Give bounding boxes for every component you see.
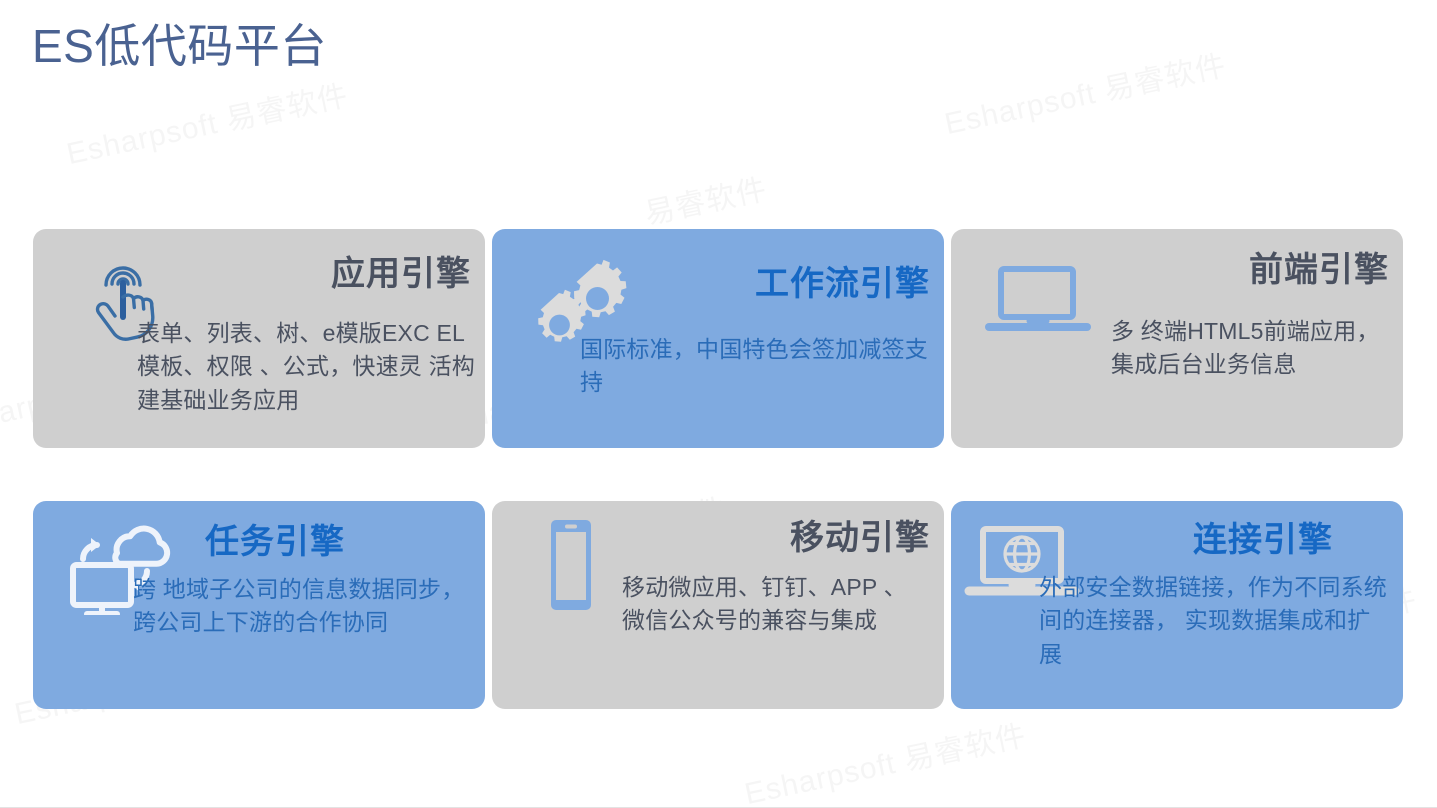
card-title: 移动引擎 bbox=[642, 517, 930, 560]
card-body: 多 终端HTML5前端应用，集成后台业务信息 bbox=[1111, 315, 1393, 382]
watermark-text: Esharpsoft 易睿软件 bbox=[62, 70, 352, 173]
feature-card-grid: 应用引擎 表单、列表、树、e模版EXC EL模板、权限 、公式，快速灵 活构建基… bbox=[33, 229, 1404, 709]
card-title: 任务引擎 bbox=[183, 521, 345, 564]
card-title: 应用引擎 bbox=[183, 253, 471, 296]
feature-card-frontend-engine[interactable]: 前端引擎 多 终端HTML5前端应用，集成后台业务信息 bbox=[951, 229, 1403, 448]
card-title: 工作流引擎 bbox=[642, 263, 930, 306]
slide-canvas: Esharpsoft 易睿软件Esharpsoft 易睿软件易睿软件Esharp… bbox=[0, 0, 1437, 808]
card-body: 跨 地域子公司的信息数据同步，跨公司上下游的合作协同 bbox=[133, 573, 479, 640]
card-body: 外部安全数据链接，作为不同系统间的连接器， 实现数据集成和扩展 bbox=[1039, 571, 1389, 671]
feature-card-app-engine[interactable]: 应用引擎 表单、列表、树、e模版EXC EL模板、权限 、公式，快速灵 活构建基… bbox=[33, 229, 485, 448]
watermark-text: Esharpsoft 易睿软件 bbox=[740, 710, 1030, 808]
card-title: 连接引擎 bbox=[1101, 519, 1333, 562]
watermark-text: 易睿软件 bbox=[640, 164, 770, 233]
watermark-text: Esharpsoft 易睿软件 bbox=[940, 40, 1230, 143]
feature-card-task-engine[interactable]: 任务引擎 跨 地域子公司的信息数据同步，跨公司上下游的合作协同 bbox=[33, 501, 485, 709]
card-body: 移动微应用、钉钉、APP 、微信公众号的兼容与集成 bbox=[622, 571, 908, 638]
smartphone-icon bbox=[512, 513, 630, 617]
card-title: 前端引擎 bbox=[1101, 249, 1389, 292]
feature-card-mobile-engine[interactable]: 移动引擎 移动微应用、钉钉、APP 、微信公众号的兼容与集成 bbox=[492, 501, 944, 709]
laptop-icon bbox=[979, 249, 1097, 353]
feature-card-workflow-engine[interactable]: 工作流引擎 国际标准，中国特色会签加减签支持 bbox=[492, 229, 944, 448]
feature-card-connect-engine[interactable]: 连接引擎 外部安全数据链接，作为不同系统间的连接器， 实现数据集成和扩展 bbox=[951, 501, 1403, 709]
card-body: 表单、列表、树、e模版EXC EL模板、权限 、公式，快速灵 活构建基础业务应用 bbox=[137, 317, 477, 417]
card-body: 国际标准，中国特色会签加减签支持 bbox=[580, 333, 934, 400]
page-title: ES低代码平台 bbox=[32, 18, 327, 76]
